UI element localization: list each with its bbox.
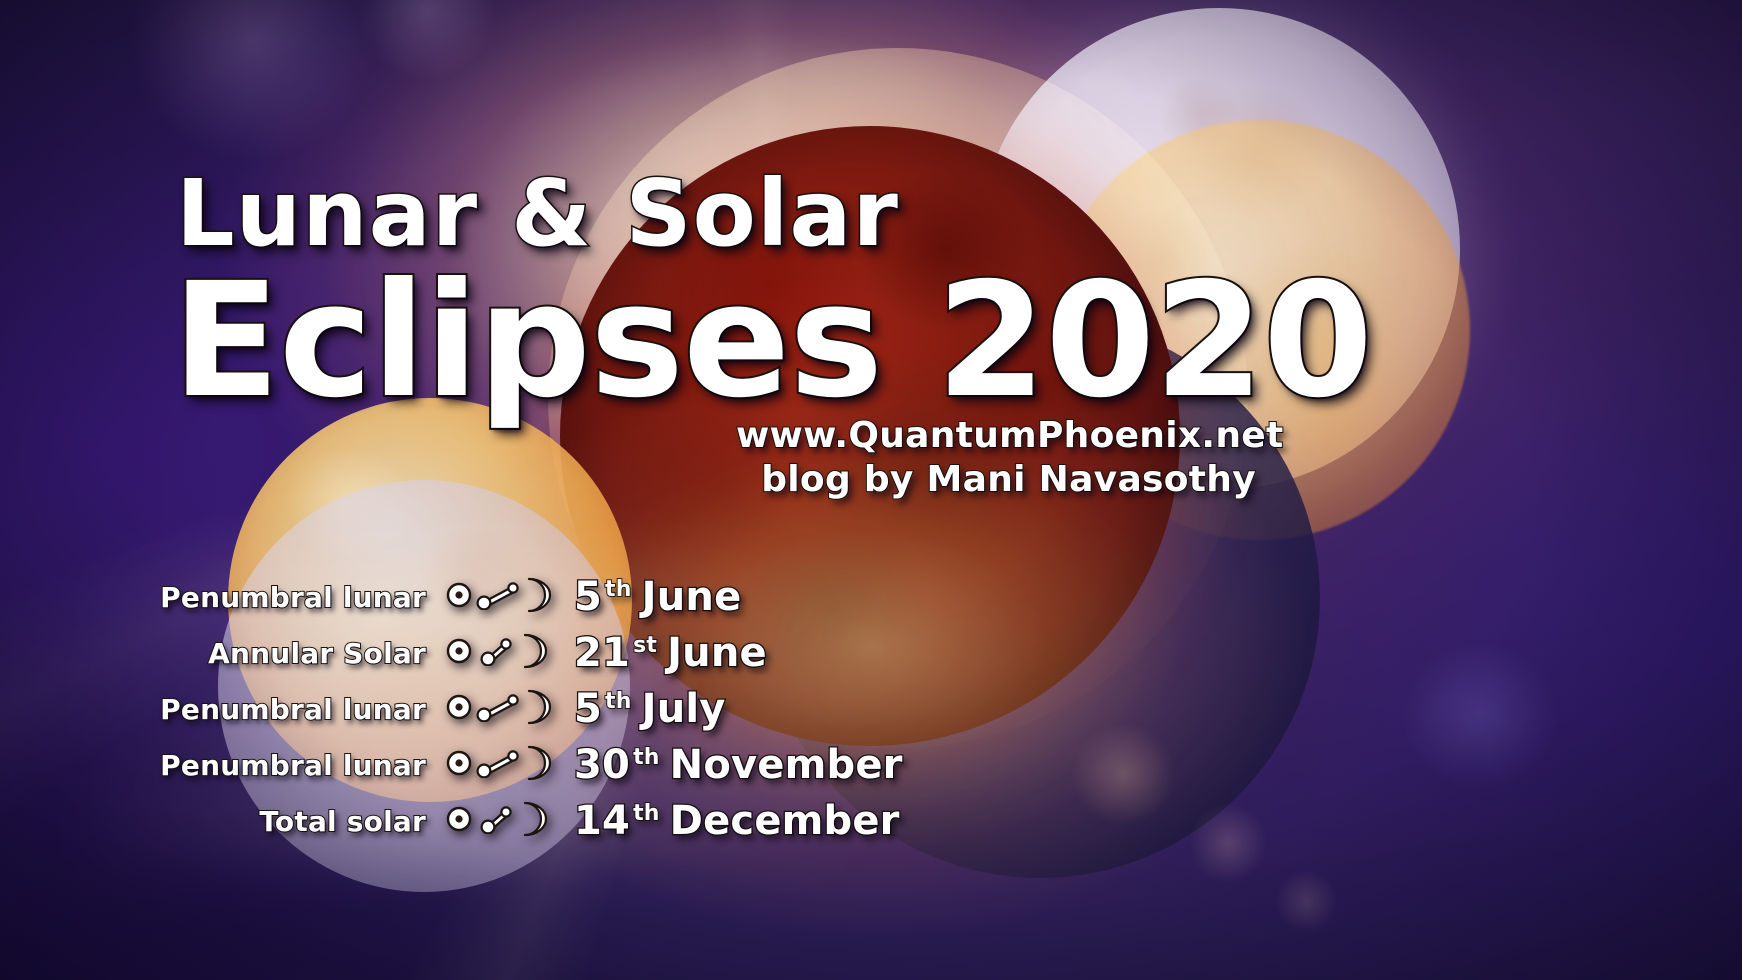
eclipse-poster: Lunar & Solar Eclipses 2020 www.QuantumP… <box>0 0 1742 980</box>
orbit-swoosh-icon <box>476 748 522 782</box>
eclipse-type-label: Penumbral lunar <box>150 581 426 614</box>
eclipse-type-label: Penumbral lunar <box>150 693 426 726</box>
crescent-moon-icon <box>522 577 552 617</box>
sun-dot-icon <box>446 638 472 668</box>
crescent-moon-icon <box>522 745 552 785</box>
eclipse-month: July <box>642 686 726 732</box>
eclipse-day: 5 <box>574 574 602 620</box>
eclipse-day-ordinal: th <box>633 801 660 826</box>
sun-dot-icon <box>446 806 472 836</box>
eclipse-day: 21 <box>574 630 630 676</box>
eclipse-row[interactable]: Penumbral lunar5thJuly <box>150 684 903 734</box>
eclipse-day: 14 <box>574 798 630 844</box>
penumbral-lunar-icons <box>446 745 554 785</box>
eclipse-date: 5thJuly <box>574 686 903 732</box>
poster-content: Lunar & Solar Eclipses 2020 www.QuantumP… <box>0 0 1742 980</box>
eclipse-day: 30 <box>574 742 630 788</box>
solar-icons <box>446 633 554 673</box>
poster-title-line-1: Lunar & Solar <box>176 168 899 260</box>
eclipse-date: 14thDecember <box>574 798 903 844</box>
poster-title-line-2: Eclipses 2020 <box>172 262 1372 420</box>
eclipse-row[interactable]: Penumbral lunar5thJune <box>150 572 903 622</box>
sun-dot-icon <box>446 750 472 780</box>
eclipse-day-ordinal: st <box>633 633 657 658</box>
eclipse-row[interactable]: Penumbral lunar30thNovember <box>150 740 903 790</box>
author-byline: blog by Mani Navasothy <box>736 458 1256 502</box>
eclipse-date: 21stJune <box>574 630 903 676</box>
sun-dot-icon <box>446 694 472 724</box>
eclipse-day: 5 <box>574 686 602 732</box>
website-url[interactable]: www.QuantumPhoenix.net <box>736 414 1256 458</box>
penumbral-lunar-icons <box>446 577 554 617</box>
eclipse-type-label: Total solar <box>150 805 426 838</box>
eclipse-type-label: Annular Solar <box>150 637 426 670</box>
solar-icons <box>446 801 554 841</box>
eclipse-list: Penumbral lunar5thJuneAnnular Solar21stJ… <box>150 572 903 846</box>
crescent-moon-icon <box>518 801 548 841</box>
crescent-moon-icon <box>518 633 548 673</box>
orbit-swoosh-icon <box>476 692 522 726</box>
eclipse-day-ordinal: th <box>605 689 632 714</box>
eclipse-month: June <box>667 630 767 676</box>
credits-block: www.QuantumPhoenix.net blog by Mani Nava… <box>736 414 1256 502</box>
eclipse-month: June <box>642 574 742 620</box>
eclipse-day-ordinal: th <box>605 577 632 602</box>
eclipse-month: November <box>670 742 903 788</box>
sun-dot-icon <box>446 582 472 612</box>
orbit-swoosh-icon <box>480 804 514 838</box>
penumbral-lunar-icons <box>446 689 554 729</box>
eclipse-type-label: Penumbral lunar <box>150 749 426 782</box>
crescent-moon-icon <box>522 689 552 729</box>
eclipse-month: December <box>670 798 900 844</box>
eclipse-day-ordinal: th <box>633 745 660 770</box>
orbit-swoosh-icon <box>476 580 522 614</box>
eclipse-row[interactable]: Total solar14thDecember <box>150 796 903 846</box>
eclipse-row[interactable]: Annular Solar21stJune <box>150 628 903 678</box>
eclipse-date: 30thNovember <box>574 742 903 788</box>
eclipse-date: 5thJune <box>574 574 903 620</box>
orbit-swoosh-icon <box>480 636 514 670</box>
